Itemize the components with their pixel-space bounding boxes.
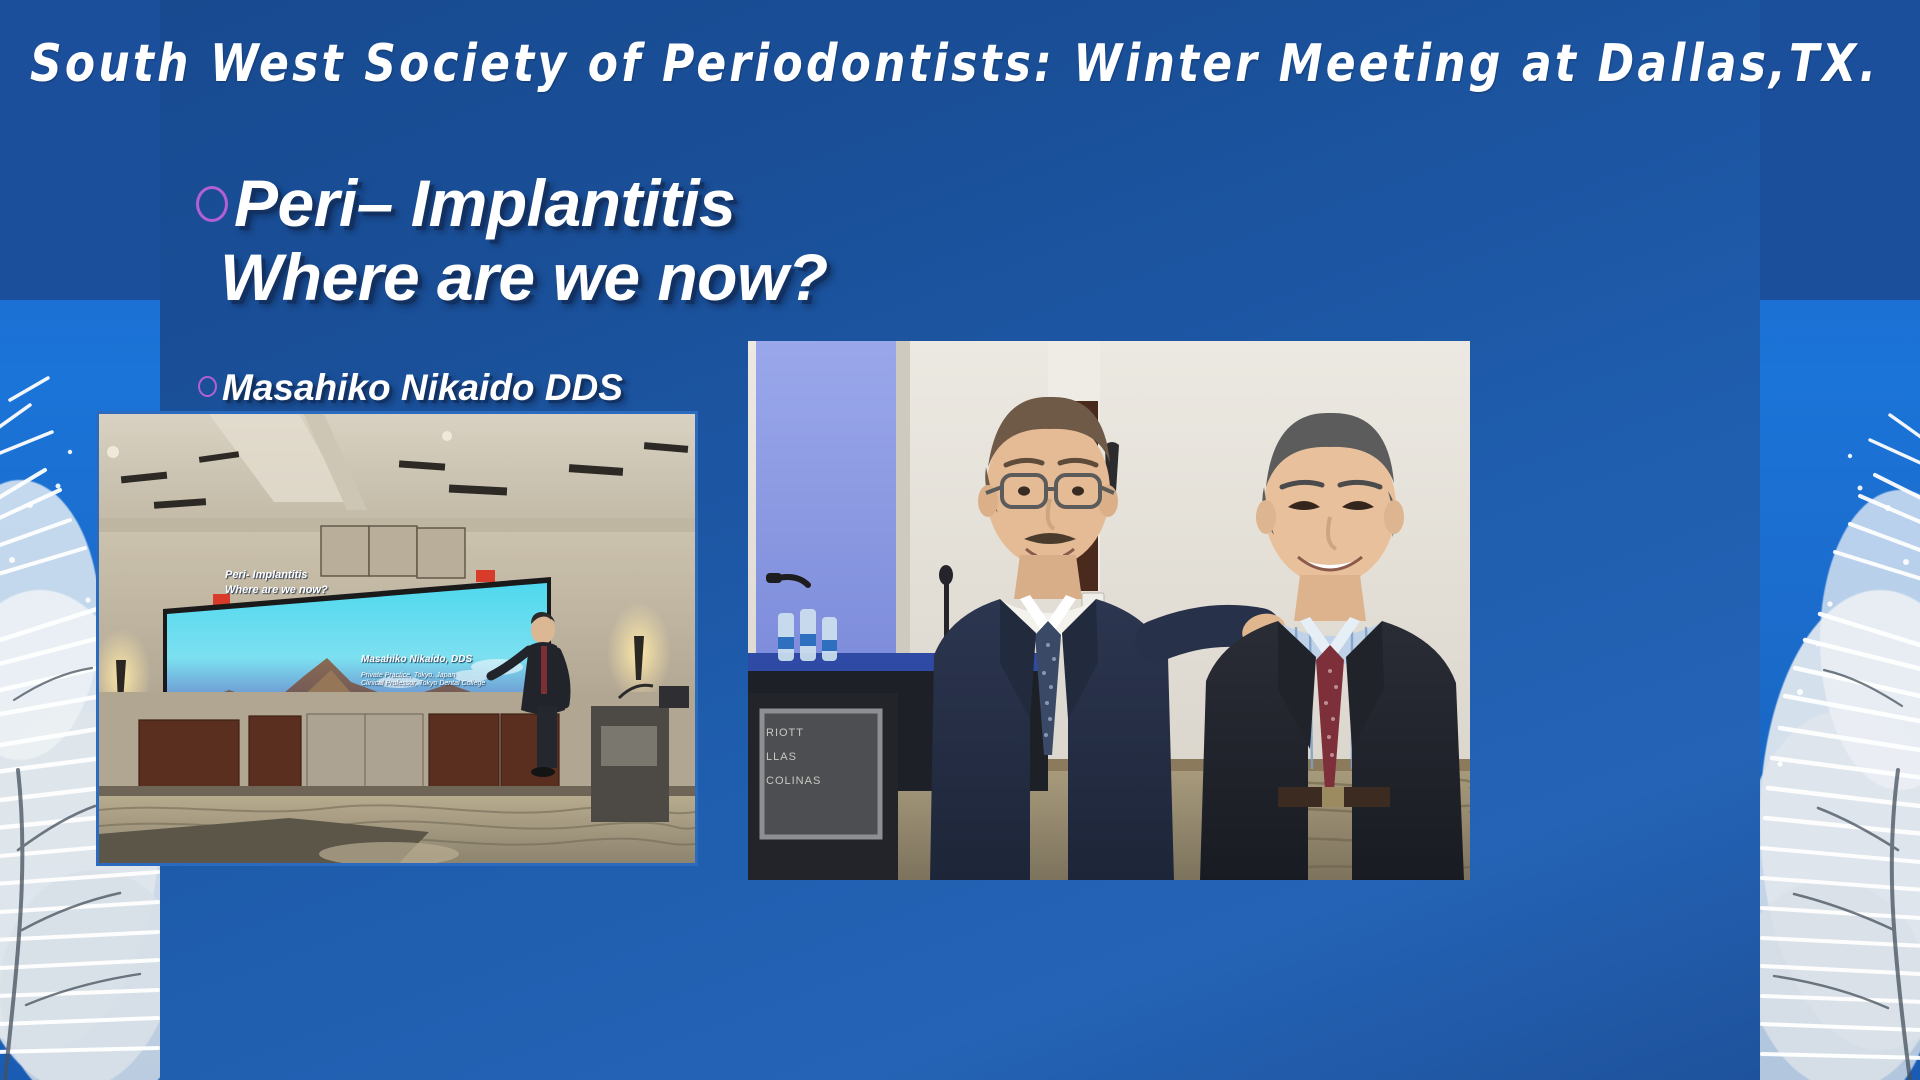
projected-slide-line-2: Where are we now? — [225, 584, 328, 596]
author-name: Masahiko Nikaido DDS — [222, 367, 623, 408]
author-block: Masahiko Nikaido DDS — [198, 366, 623, 410]
frost-tree-right-decoration — [1760, 0, 1920, 1080]
presentation-slide: South West Society of Periodontists: Win… — [0, 0, 1920, 1080]
projected-slide-affiliation-2: Clinical Professor, Tokyo Dental College — [361, 680, 485, 687]
slide-header-title: South West Society of Periodontists: Win… — [30, 34, 1890, 94]
heading-line-2: Where are we now? — [196, 240, 828, 314]
main-heading-block: Peri– Implantitis Where are we now? — [196, 166, 828, 314]
photo-two-attendees-portrait: RIOTT LLAS COLINAS — [748, 341, 1470, 880]
lectern-plaque-line-2: LLAS — [766, 751, 797, 763]
lectern-plaque-line-3: COLINAS — [766, 775, 821, 787]
lectern-plaque-line-1: RIOTT — [766, 727, 804, 739]
open-circle-bullet-icon-small — [198, 376, 217, 397]
open-circle-bullet-icon — [196, 186, 228, 222]
projected-slide-affiliation-1: Private Practice, Tokyo, Japan — [361, 672, 455, 679]
heading-line-1-row: Peri– Implantitis — [196, 166, 828, 240]
projected-slide-presenter: Masahiko Nikaido, DDS — [361, 654, 472, 665]
heading-line-1: Peri– Implantitis — [234, 166, 735, 240]
photo-lecture-hall: Peri- Implantitis Where are we now? Masa… — [96, 411, 698, 866]
projected-slide-line-1: Peri- Implantitis — [225, 569, 308, 581]
author-row: Masahiko Nikaido DDS — [198, 366, 623, 410]
